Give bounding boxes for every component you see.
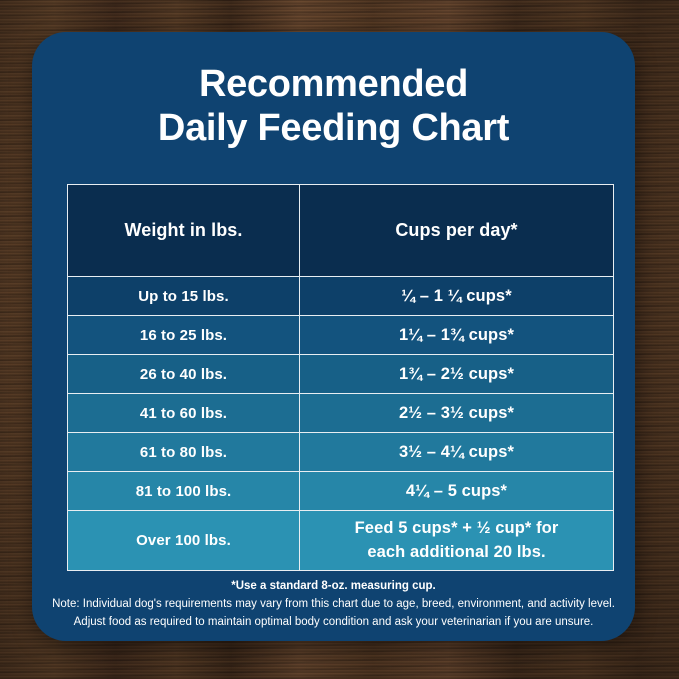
cell-cups: 4¼ – 5 cups* — [300, 472, 614, 511]
cell-weight: 61 to 80 lbs. — [68, 433, 300, 472]
table-row: Up to 15 lbs. ¼ – 1 ¼ cups* — [68, 277, 614, 316]
cell-weight: Up to 15 lbs. — [68, 277, 300, 316]
table-row: Over 100 lbs. Feed 5 cups* + ½ cup* for … — [68, 511, 614, 571]
footnotes: *Use a standard 8-oz. measuring cup. Not… — [32, 578, 635, 631]
footnote-note-line-2: Adjust food as required to maintain opti… — [46, 614, 621, 632]
cell-cups: Feed 5 cups* + ½ cup* for each additiona… — [300, 511, 614, 571]
cell-cups-line-1: Feed 5 cups* + ½ cup* for — [300, 517, 613, 540]
cell-weight: 81 to 100 lbs. — [68, 472, 300, 511]
table-row: 81 to 100 lbs. 4¼ – 5 cups* — [68, 472, 614, 511]
table-header: Weight in lbs. Cups per day* — [68, 185, 614, 277]
feeding-table: Weight in lbs. Cups per day* Up to 15 lb… — [67, 184, 614, 571]
page-title-line-1: Recommended — [32, 62, 635, 106]
cell-cups: 3½ – 4¼ cups* — [300, 433, 614, 472]
table-row: 26 to 40 lbs. 1¾ – 2½ cups* — [68, 355, 614, 394]
cell-weight: 16 to 25 lbs. — [68, 316, 300, 355]
column-header-weight: Weight in lbs. — [68, 185, 300, 277]
table-row: 61 to 80 lbs. 3½ – 4¼ cups* — [68, 433, 614, 472]
cell-cups: ¼ – 1 ¼ cups* — [300, 277, 614, 316]
title-block: Recommended Daily Feeding Chart — [32, 32, 635, 150]
table-body: Up to 15 lbs. ¼ – 1 ¼ cups* 16 to 25 lbs… — [68, 277, 614, 571]
cell-cups: 1¼ – 1¾ cups* — [300, 316, 614, 355]
cell-cups: 1¾ – 2½ cups* — [300, 355, 614, 394]
cell-weight: Over 100 lbs. — [68, 511, 300, 571]
cell-cups: 2½ – 3½ cups* — [300, 394, 614, 433]
cell-weight: 26 to 40 lbs. — [68, 355, 300, 394]
table-row: 41 to 60 lbs. 2½ – 3½ cups* — [68, 394, 614, 433]
table-row: 16 to 25 lbs. 1¼ – 1¾ cups* — [68, 316, 614, 355]
table-header-row: Weight in lbs. Cups per day* — [68, 185, 614, 277]
page-title-line-2: Daily Feeding Chart — [32, 106, 635, 150]
column-header-cups: Cups per day* — [300, 185, 614, 277]
cell-cups-line-2: each additional 20 lbs. — [300, 541, 613, 564]
feeding-chart-card: Recommended Daily Feeding Chart Weight i… — [32, 32, 635, 641]
footnote-note-line-1: Note: Individual dog's requirements may … — [46, 596, 621, 614]
footnote-measuring-cup: *Use a standard 8-oz. measuring cup. — [46, 578, 621, 596]
cell-weight: 41 to 60 lbs. — [68, 394, 300, 433]
